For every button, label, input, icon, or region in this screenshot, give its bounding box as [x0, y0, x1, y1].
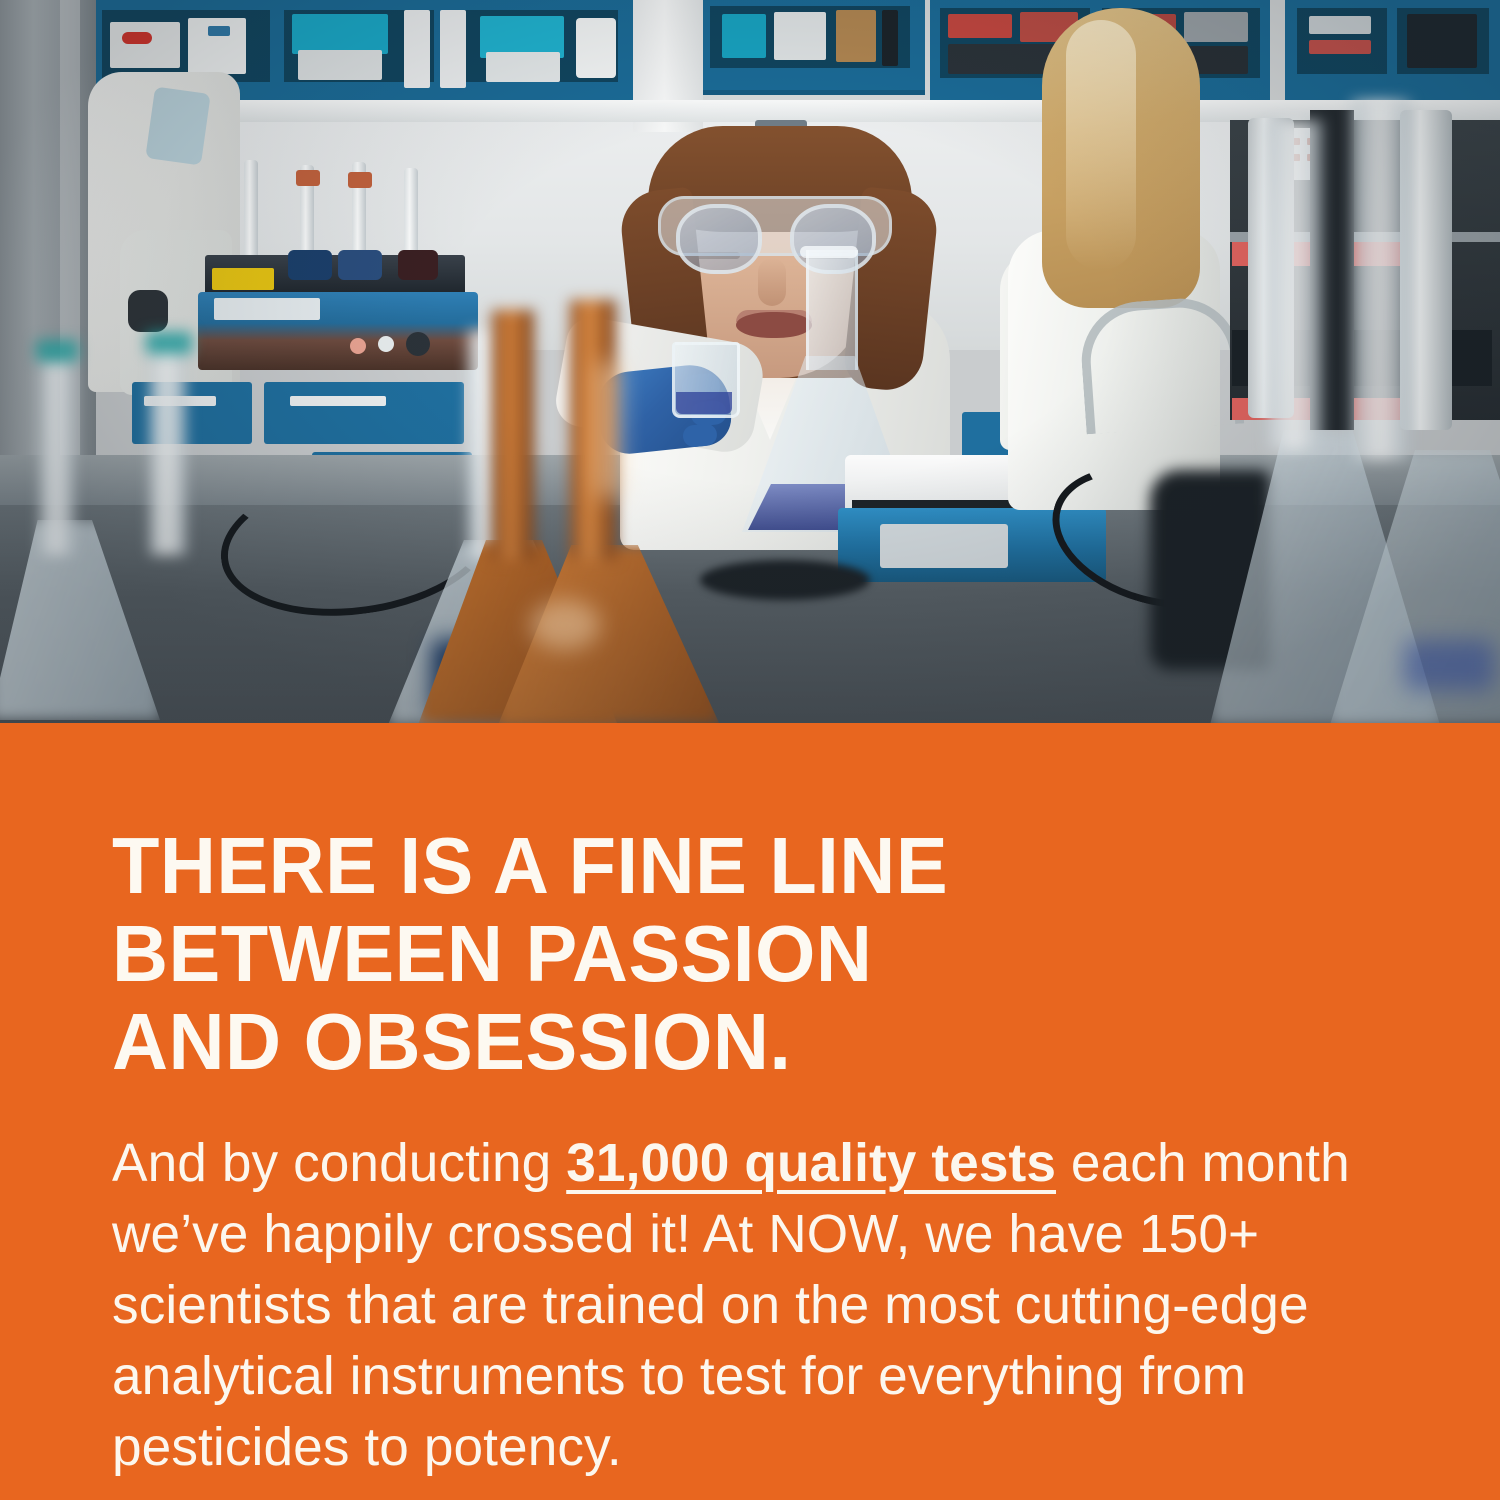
cabinet-label [208, 26, 230, 36]
instrument-yellow-label [212, 268, 274, 290]
orange-text-panel: THERE IS A FINE LINE BETWEEN PASSION AND… [0, 723, 1500, 1500]
cabinet-shadow [1407, 14, 1477, 68]
lab-photo: 500 [0, 0, 1500, 723]
right-scientist-hair-highlight [1066, 20, 1136, 270]
page-title: THERE IS A FINE LINE BETWEEN PASSION AND… [112, 822, 1373, 1086]
left-scientist-collar [145, 86, 210, 165]
foreground-flask-neck [40, 355, 74, 555]
right-foreground-liquid [1404, 640, 1494, 690]
instrument-indicator [378, 336, 394, 352]
cabinet-label [122, 32, 152, 44]
test-tube [404, 168, 418, 260]
erlenmeyer-flask-neck [806, 250, 858, 370]
left-scientist-hand [128, 290, 168, 332]
glove-finger [682, 423, 718, 448]
instrument-knob [288, 250, 332, 280]
cabinet-bottle [576, 18, 616, 78]
tube-cap [296, 170, 320, 186]
amber-flask-neck [492, 310, 534, 560]
instrument-knob [338, 250, 382, 280]
foreground-flask-neck [150, 345, 186, 555]
foreground-flask-cap [146, 332, 192, 354]
cabinet-box [486, 52, 560, 82]
cabinet-tube [404, 10, 430, 88]
erlenmeyer-flask-rim [800, 246, 858, 258]
instrument-display [214, 298, 320, 320]
marketing-poster: 500 THERE IS A FINE LINE BETWEEN PASSION… [0, 0, 1500, 1500]
cabinet-bottle [292, 14, 388, 54]
beaker-liquid [676, 392, 732, 414]
test-tube [244, 160, 258, 260]
upper-cabinet-right [1285, 0, 1500, 105]
nose [758, 258, 786, 306]
body-copy: And by conducting 31,000 quality tests e… [112, 1128, 1383, 1483]
tube-cap [348, 172, 372, 188]
instrument-dial [406, 332, 430, 356]
cabinet-box [110, 22, 180, 68]
cabinet-label [1309, 40, 1371, 54]
foreground-flask-cap [36, 340, 78, 362]
cabinet-box [948, 14, 1012, 38]
cabinet-box [1309, 16, 1371, 34]
cabinet-bottle [722, 14, 766, 58]
safety-goggles-lens-left [676, 204, 762, 274]
cabinet-box [1184, 12, 1248, 42]
instrument-indicator [350, 338, 366, 354]
drawer-handle [290, 396, 386, 406]
cabinet-box [298, 50, 382, 80]
cabinet-divider [882, 10, 898, 66]
flexible-hose [1078, 295, 1245, 435]
cabinet-box [774, 12, 826, 60]
lab-balance-panel [880, 524, 1008, 568]
right-foreground-flask-neck [1268, 120, 1322, 450]
bench-drawer [264, 382, 464, 444]
amber-flask-highlight [530, 600, 600, 650]
cabinet-tube [440, 10, 466, 88]
bench-shadow [700, 560, 870, 600]
instrument-knob [398, 250, 438, 280]
right-foreground-flask-neck [1352, 100, 1410, 460]
upper-cabinet-center-left [700, 0, 925, 95]
amber-flask-highlight [596, 360, 622, 500]
cabinet-box [836, 10, 876, 62]
body-copy-before: And by conducting [112, 1133, 566, 1193]
mouth [736, 312, 812, 338]
quality-tests-highlight: 31,000 quality tests [566, 1133, 1056, 1193]
